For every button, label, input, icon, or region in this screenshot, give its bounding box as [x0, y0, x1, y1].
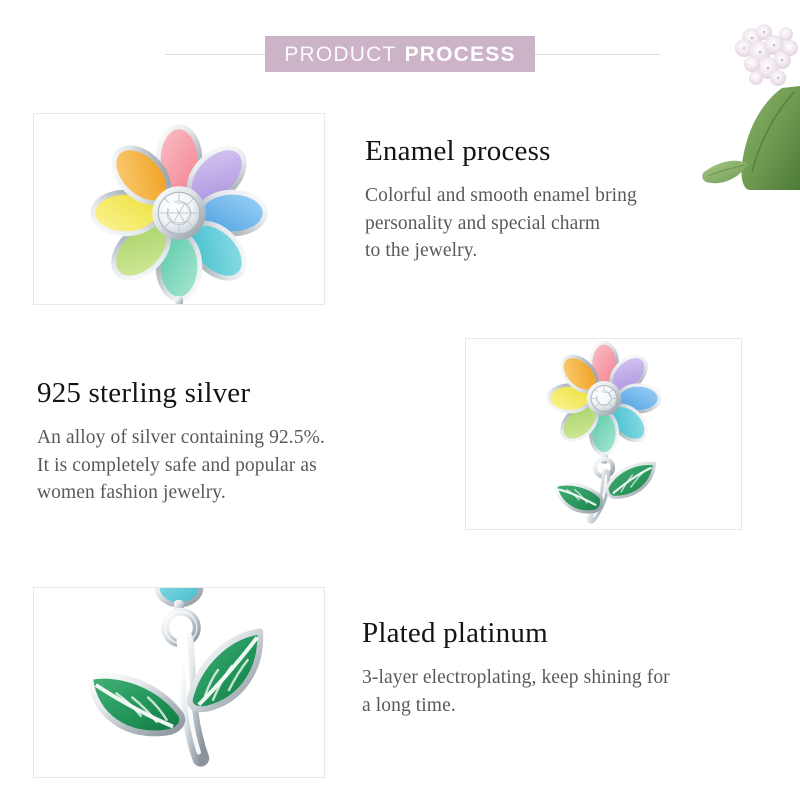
leaf-left [556, 484, 602, 512]
section-text-platinum: Plated platinum 3-layer electroplating, … [362, 618, 752, 719]
body-line: An alloy of silver containing 92.5%. [37, 424, 407, 452]
product-image-panel-platinum [33, 587, 325, 778]
product-image-panel-silver [465, 338, 742, 530]
leaf-lower-left [90, 676, 182, 734]
section-title-enamel: Enamel process [365, 136, 715, 168]
daisy-charm-graphic [93, 127, 265, 304]
section-body-platinum: 3-layer electroplating, keep shining for… [362, 664, 752, 719]
header-title-light: PRODUCT [284, 44, 396, 65]
header-title-chip: PRODUCT PROCESS [265, 36, 535, 72]
header-title-bold: PROCESS [405, 44, 516, 65]
botanical-large-leaf [741, 86, 800, 190]
header-rule-right [530, 54, 660, 55]
body-line: It is completely safe and popular as [37, 452, 407, 480]
header-rule-left [165, 54, 270, 55]
body-line: a long time. [362, 692, 752, 720]
section-text-enamel: Enamel process Colorful and smooth ename… [365, 136, 715, 265]
leaf-upper-right [190, 632, 260, 710]
body-line: Colorful and smooth enamel bring [365, 182, 715, 210]
full-charm-graphic [549, 343, 660, 519]
body-line: personality and special charm [365, 210, 715, 238]
product-image-panel-enamel [33, 113, 325, 305]
section-title-platinum: Plated platinum [362, 618, 752, 650]
leaves-closeup-graphic [90, 588, 260, 758]
section-body-enamel: Colorful and smooth enamel bring persona… [365, 182, 715, 265]
body-line: women fashion jewelry. [37, 479, 407, 507]
page-header: PRODUCT PROCESS [0, 36, 800, 72]
cz-gem-facets [158, 192, 200, 234]
section-body-silver: An alloy of silver containing 92.5%. It … [37, 424, 407, 507]
section-text-silver: 925 sterling silver An alloy of silver c… [37, 378, 407, 507]
section-title-silver: 925 sterling silver [37, 378, 407, 410]
body-line: 3-layer electroplating, keep shining for [362, 664, 752, 692]
body-line: to the jewelry. [365, 237, 715, 265]
